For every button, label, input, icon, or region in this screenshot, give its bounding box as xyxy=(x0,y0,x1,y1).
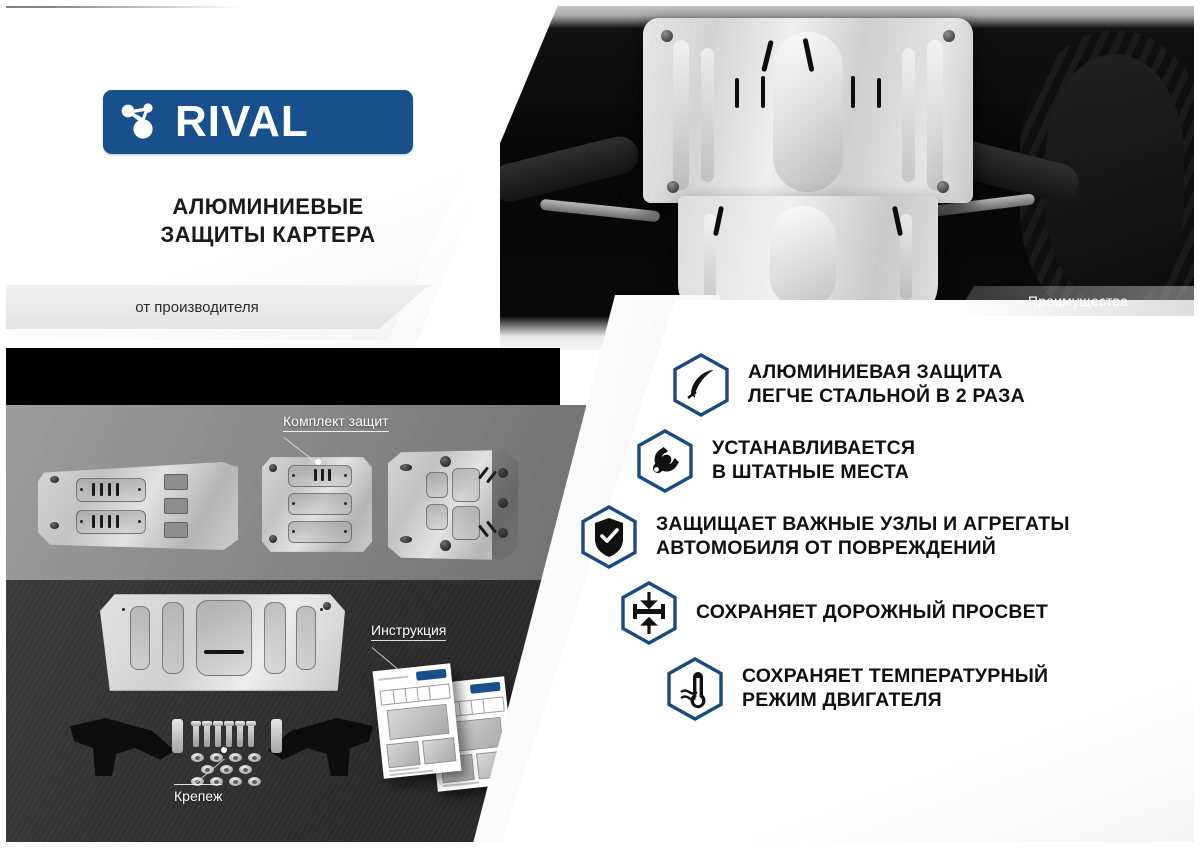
feature-text-lightweight: АЛЮМИНИЕВАЯ ЗАЩИТА ЛЕГЧЕ СТАЛЬНОЙ В 2 РА… xyxy=(748,361,1025,409)
advantages-tab-label: Преимущества xyxy=(1028,293,1128,309)
feature-line1: АЛЮМИНИЕВАЯ ЗАЩИТА xyxy=(748,361,1003,383)
feature-line2: В ШТАТНЫЕ МЕСТА xyxy=(712,461,909,483)
feature-line2: АВТОМОБИЛЯ ОТ ПОВРЕЖДЕНИЙ xyxy=(656,537,996,559)
installed-skid-plate-front xyxy=(643,18,973,203)
thermometer-icon xyxy=(664,656,726,722)
feature-item-temperature: СОХРАНЯЕТ ТЕМПЕРАТУРНЫЙ РЕЖИМ ДВИГАТЕЛЯ xyxy=(664,656,1180,722)
tie-rod-left xyxy=(540,199,660,222)
subtitle-bar: от производителя xyxy=(0,285,430,329)
callout-instruction: Инструкция xyxy=(371,622,446,641)
feature-item-lightweight: АЛЮМИНИЕВАЯ ЗАЩИТА ЛЕГЧЕ СТАЛЬНОЙ В 2 РА… xyxy=(670,352,1180,418)
callout-hardware-rule xyxy=(174,784,222,785)
product-infographic-poster: Преимущества RIVAL АЛЮМИНИЕВЫЕ ЗАЩИТЫ КА… xyxy=(0,0,1200,848)
callout-instruction-label: Инструкция xyxy=(371,622,446,638)
callout-kit-rule xyxy=(283,431,389,432)
callout-hardware-anchor xyxy=(221,747,227,753)
ground-clearance-icon xyxy=(618,580,680,646)
callout-hardware-label: Крепеж xyxy=(174,788,222,804)
skid-plate-2 xyxy=(262,453,372,556)
page-title: АЛЮМИНИЕВЫЕ ЗАЩИТЫ КАРТЕРА xyxy=(103,193,433,249)
wrench-icon xyxy=(634,428,696,494)
brand-name: RIVAL xyxy=(175,100,309,144)
feature-line1: ЗАЩИЩАЕТ ВАЖНЫЕ УЗЛЫ И АГРЕГАТЫ xyxy=(656,513,1070,535)
feature-item-fitment: УСТАНАВЛИВАЕТСЯ В ШТАТНЫЕ МЕСТА xyxy=(634,428,1180,494)
page-title-line2: ЗАЩИТЫ КАРТЕРА xyxy=(103,221,433,249)
divider-band xyxy=(0,348,560,405)
feature-item-clearance: СОХРАНЯЕТ ДОРОЖНЫЙ ПРОСВЕТ xyxy=(618,580,1180,646)
instruction-sheet-front xyxy=(373,663,462,779)
feature-text-protection: ЗАЩИЩАЕТ ВАЖНЫЕ УЗЛЫ И АГРЕГАТЫ АВТОМОБИ… xyxy=(656,513,1070,561)
subtitle-label: от производителя xyxy=(135,299,294,316)
page-title-line1: АЛЮМИНИЕВЫЕ xyxy=(103,193,433,221)
skid-plate-1 xyxy=(38,462,238,550)
feature-line1: СОХРАНЯЕТ ТЕМПЕРАТУРНЫЙ xyxy=(742,665,1048,687)
feature-text-clearance: СОХРАНЯЕТ ДОРОЖНЫЙ ПРОСВЕТ xyxy=(696,601,1048,625)
feature-line2: РЕЖИМ ДВИГАТЕЛЯ xyxy=(742,689,942,711)
feature-text-temperature: СОХРАНЯЕТ ТЕМПЕРАТУРНЫЙ РЕЖИМ ДВИГАТЕЛЯ xyxy=(742,665,1048,713)
feature-line1: УСТАНАВЛИВАЕТСЯ xyxy=(712,437,915,459)
feather-icon xyxy=(670,352,732,418)
feature-line2: ЛЕГЧЕ СТАЛЬНОЙ В 2 РАЗА xyxy=(748,385,1025,407)
skid-plate-3 xyxy=(388,450,518,560)
features-list: АЛЮМИНИЕВАЯ ЗАЩИТА ЛЕГЧЕ СТАЛЬНОЙ В 2 РА… xyxy=(620,352,1180,732)
feature-line1: СОХРАНЯЕТ ДОРОЖНЫЙ ПРОСВЕТ xyxy=(696,601,1048,623)
brand-logo[interactable]: RIVAL xyxy=(103,90,413,154)
suspension-arm-left xyxy=(500,132,642,205)
feature-text-fitment: УСТАНАВЛИВАЕТСЯ В ШТАТНЫЕ МЕСТА xyxy=(712,437,915,485)
fastener-group xyxy=(172,717,282,787)
callout-hardware: Крепеж xyxy=(174,784,222,804)
callout-kit-anchor xyxy=(315,459,321,465)
callout-kit-label: Комплект защит xyxy=(283,413,389,429)
skid-plate-4 xyxy=(100,590,345,695)
feature-item-protection: ЗАЩИЩАЕТ ВАЖНЫЕ УЗЛЫ И АГРЕГАТЫ АВТОМОБИ… xyxy=(578,504,1180,570)
molecule-icon xyxy=(117,100,163,144)
callout-instruction-rule xyxy=(371,640,446,641)
shield-check-icon xyxy=(578,504,640,570)
callout-kit: Комплект защит xyxy=(283,413,389,432)
advantages-tab[interactable]: Преимущества xyxy=(956,286,1200,316)
